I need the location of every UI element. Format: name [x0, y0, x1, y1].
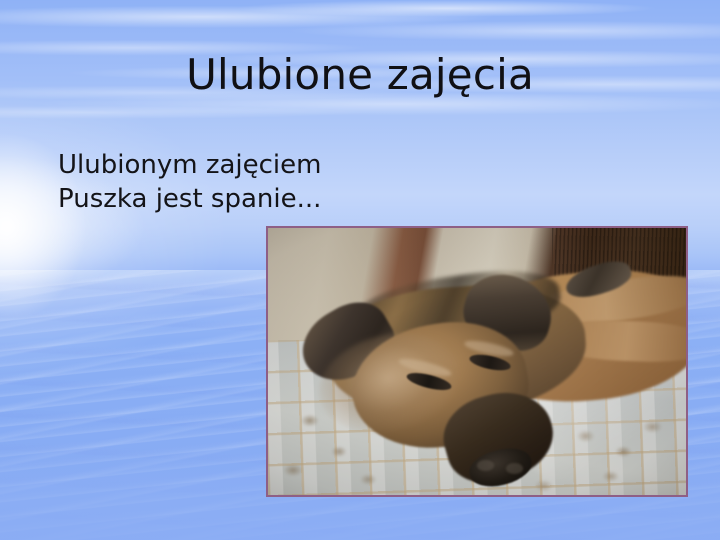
dog-photo-content — [268, 228, 686, 495]
slide-title: Ulubione zajęcia — [0, 52, 720, 97]
slide-canvas: Ulubione zajęcia Ulubionym zajęciem Pusz… — [0, 0, 720, 540]
photo-vignette — [268, 228, 686, 495]
slide-body-text: Ulubionym zajęciem Puszka jest spanie... — [58, 148, 321, 216]
dog-photo[interactable] — [266, 226, 688, 497]
